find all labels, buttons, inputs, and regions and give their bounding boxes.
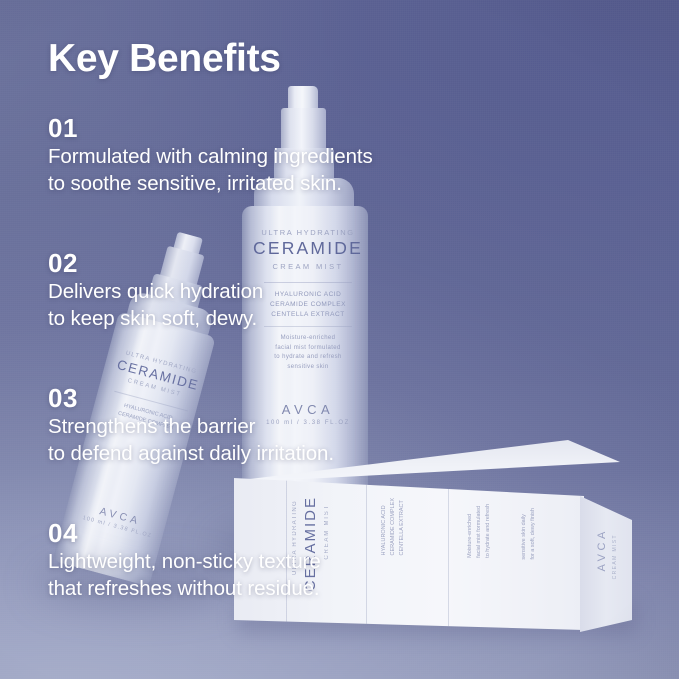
benefit-number-3: 03	[48, 383, 334, 413]
benefit-line-3a: Strengthens the barrier	[48, 413, 334, 440]
product-benefits-graphic: ULTRA HYDRATING CERAMIDE CREAM MIST HYAL…	[0, 0, 679, 679]
text-overlay: Key Benefits 01 Formulated with calming …	[0, 0, 679, 679]
benefit-line-3b: to defend against daily irritation.	[48, 440, 334, 467]
benefit-number-4: 04	[48, 518, 321, 548]
benefit-item-2: 02 Delivers quick hydration to keep skin…	[48, 248, 263, 332]
benefit-line-4a: Lightweight, non-sticky texture	[48, 548, 321, 575]
page-title: Key Benefits	[48, 37, 281, 81]
benefit-item-4: 04 Lightweight, non-sticky texture that …	[48, 518, 321, 602]
benefit-number-1: 01	[48, 113, 373, 143]
benefit-item-3: 03 Strengthens the barrier to defend aga…	[48, 383, 334, 467]
benefit-line-4b: that refreshes without residue.	[48, 575, 321, 602]
benefit-line-1b: to soothe sensitive, irritated skin.	[48, 170, 373, 197]
benefit-line-2a: Delivers quick hydration	[48, 278, 263, 305]
benefit-line-2b: to keep skin soft, dewy.	[48, 305, 263, 332]
benefit-number-2: 02	[48, 248, 263, 278]
benefit-line-1a: Formulated with calming ingredients	[48, 143, 373, 170]
benefit-item-1: 01 Formulated with calming ingredients t…	[48, 113, 373, 197]
